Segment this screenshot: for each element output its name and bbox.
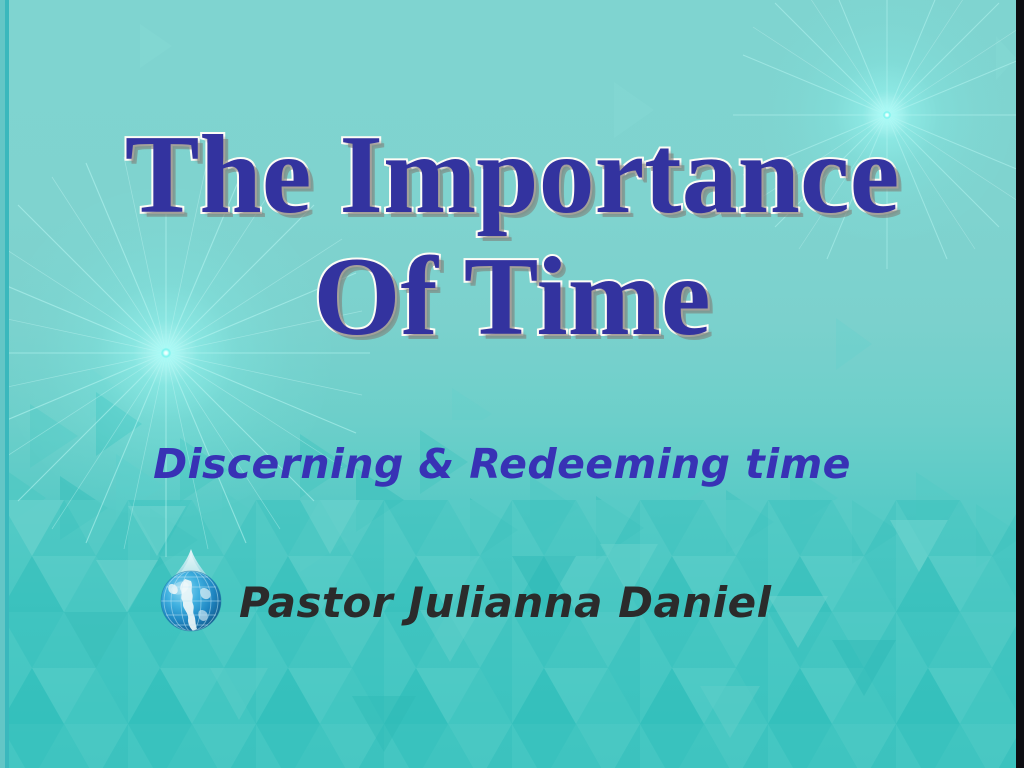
slide-edge-left-line [5, 0, 9, 768]
presentation-slide: The Importance Of Time Discerning & Rede… [0, 0, 1024, 768]
slide-title-line-2: Of Time [0, 240, 1024, 354]
presenter-name: Pastor Julianna Daniel [239, 578, 772, 627]
slide-title-line-1: The Importance [0, 118, 1024, 232]
presenter-row: Pastor Julianna Daniel [155, 545, 772, 637]
slide-subtitle: Discerning & Redeeming time [0, 440, 1024, 488]
slide-title: The Importance Of Time [0, 118, 1024, 354]
slide-edge-right-band [1016, 0, 1024, 768]
globe-waterdrop-icon [155, 545, 227, 637]
